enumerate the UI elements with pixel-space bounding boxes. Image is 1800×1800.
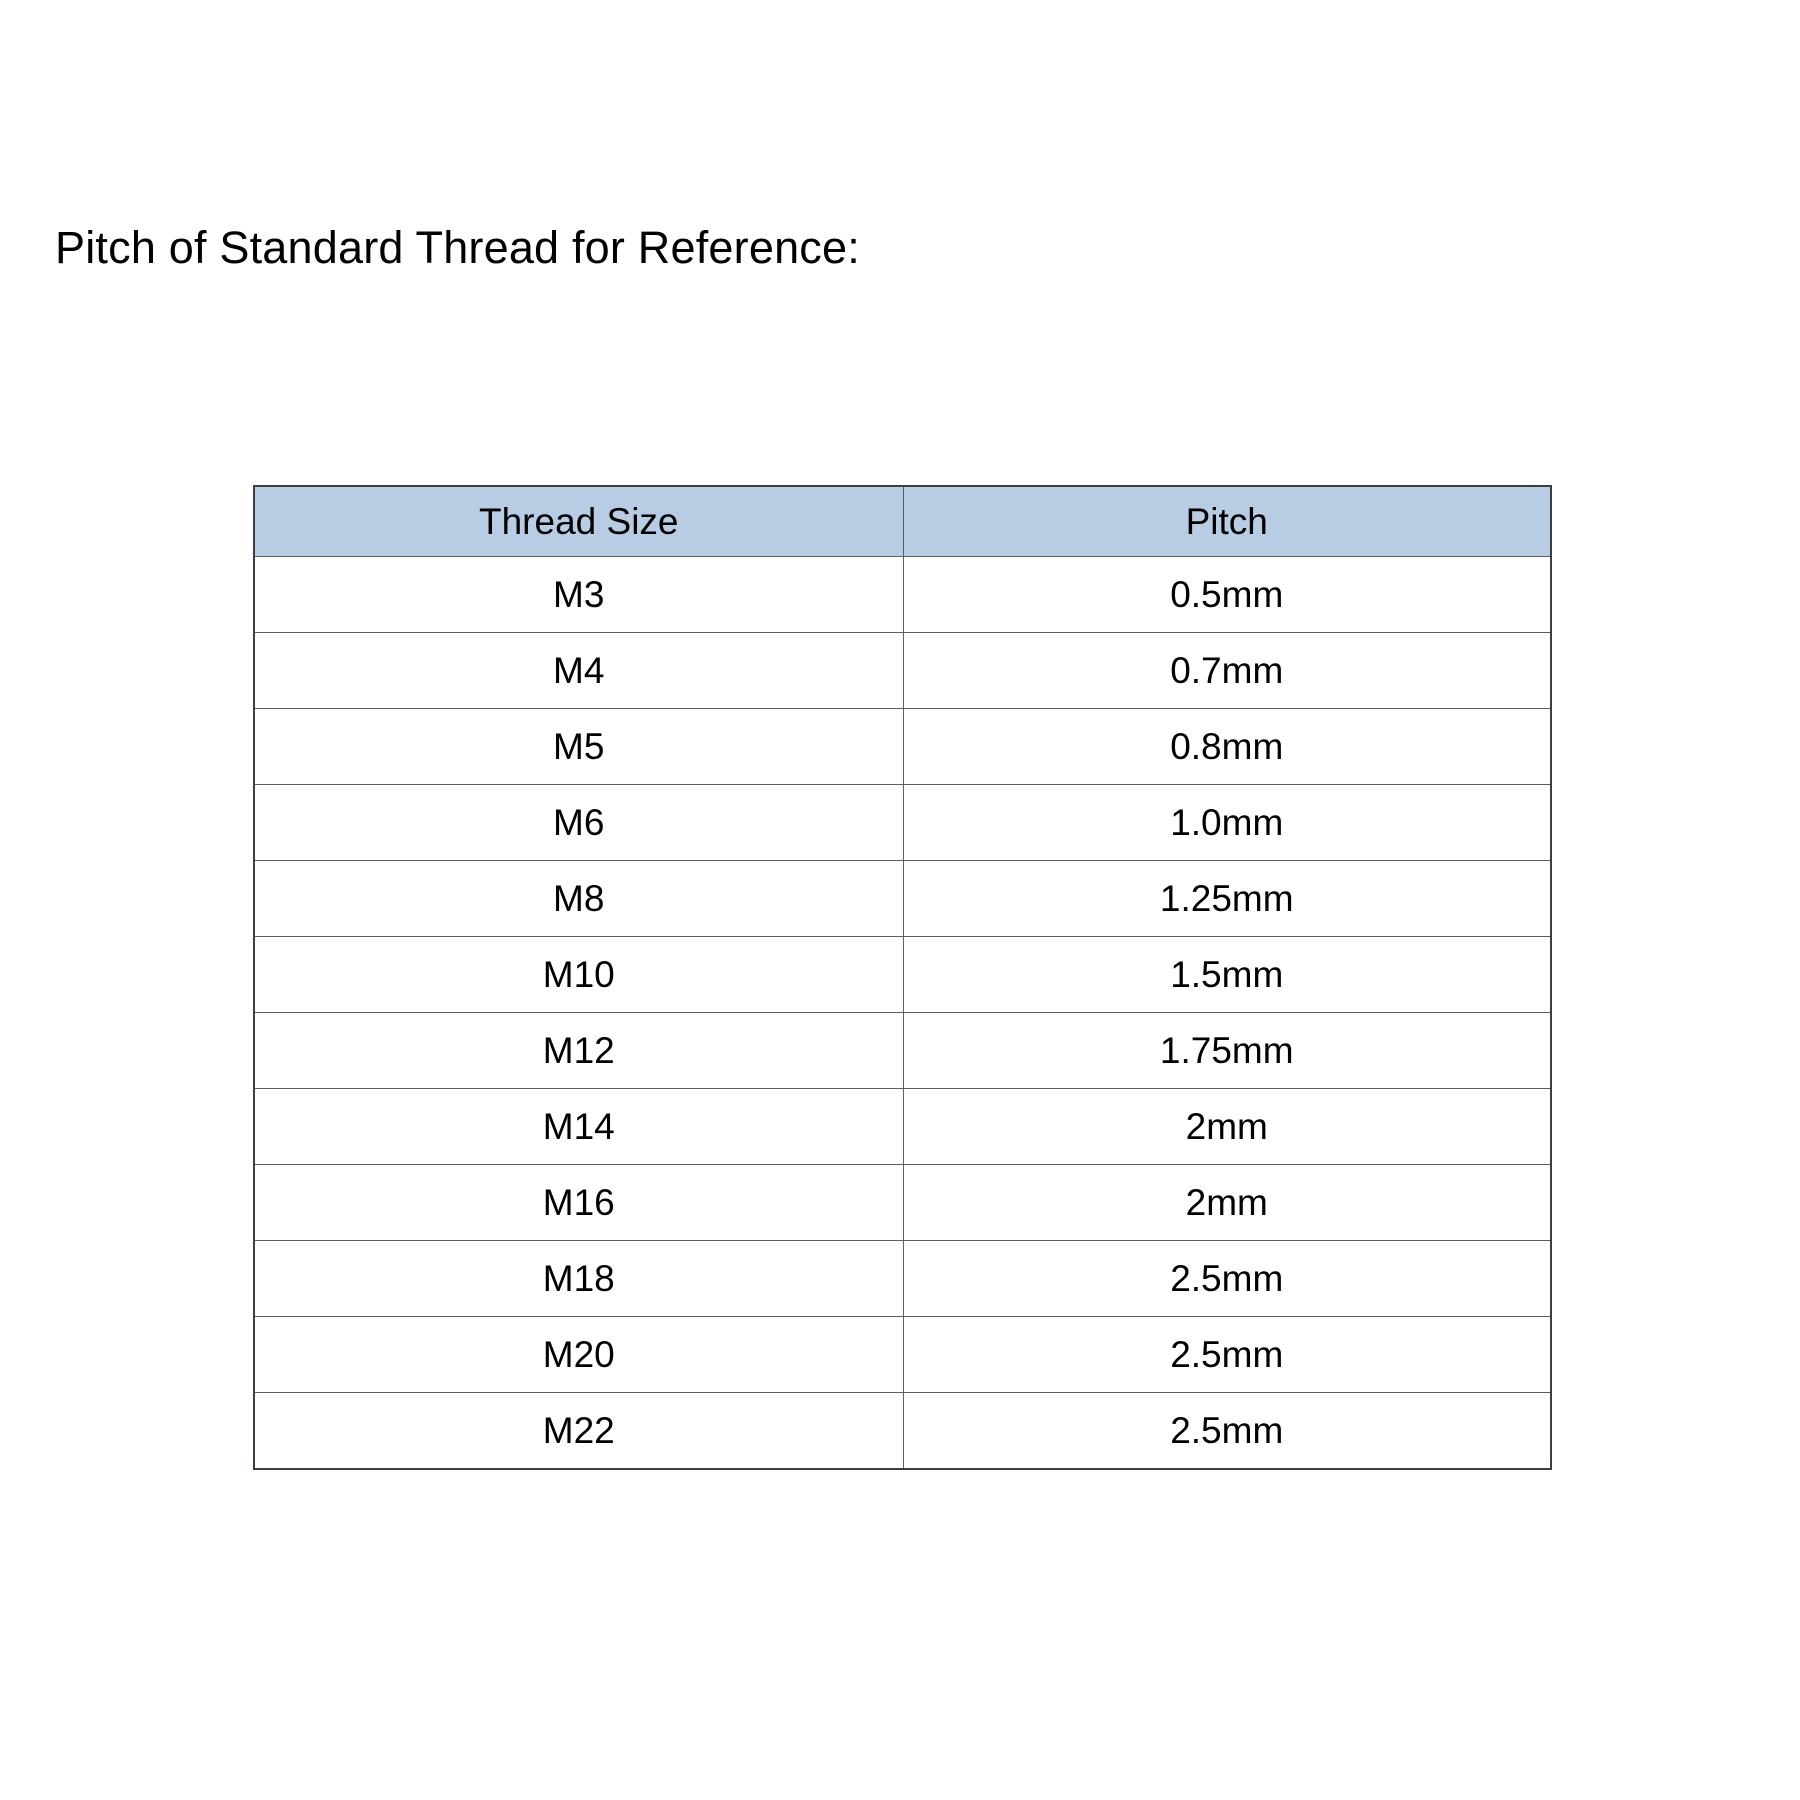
table-row: M18 2.5mm xyxy=(254,1241,1551,1317)
table-body: M3 0.5mm M4 0.7mm M5 0.8mm M6 1.0mm M8 xyxy=(254,557,1551,1470)
cell-pitch: 0.5mm xyxy=(903,557,1551,633)
thread-pitch-table-container: Thread Size Pitch M3 0.5mm M4 0.7mm M5 0… xyxy=(253,485,1550,1470)
cell-thread-size: M20 xyxy=(254,1317,903,1393)
cell-pitch: 1.0mm xyxy=(903,785,1551,861)
table-row: M10 1.5mm xyxy=(254,937,1551,1013)
column-header-thread-size: Thread Size xyxy=(254,486,903,557)
cell-thread-size: M16 xyxy=(254,1165,903,1241)
table-row: M3 0.5mm xyxy=(254,557,1551,633)
table-row: M22 2.5mm xyxy=(254,1393,1551,1470)
cell-thread-size: M14 xyxy=(254,1089,903,1165)
table-row: M6 1.0mm xyxy=(254,785,1551,861)
cell-pitch: 0.8mm xyxy=(903,709,1551,785)
cell-pitch: 2.5mm xyxy=(903,1393,1551,1470)
cell-pitch: 2.5mm xyxy=(903,1317,1551,1393)
cell-thread-size: M4 xyxy=(254,633,903,709)
table-header-row: Thread Size Pitch xyxy=(254,486,1551,557)
cell-pitch: 1.5mm xyxy=(903,937,1551,1013)
cell-pitch: 2mm xyxy=(903,1165,1551,1241)
cell-thread-size: M6 xyxy=(254,785,903,861)
page-title: Pitch of Standard Thread for Reference: xyxy=(55,222,860,274)
cell-thread-size: M22 xyxy=(254,1393,903,1470)
cell-thread-size: M18 xyxy=(254,1241,903,1317)
table-row: M16 2mm xyxy=(254,1165,1551,1241)
cell-pitch: 0.7mm xyxy=(903,633,1551,709)
cell-thread-size: M8 xyxy=(254,861,903,937)
cell-thread-size: M5 xyxy=(254,709,903,785)
table-row: M20 2.5mm xyxy=(254,1317,1551,1393)
cell-pitch: 2.5mm xyxy=(903,1241,1551,1317)
cell-pitch: 2mm xyxy=(903,1089,1551,1165)
cell-pitch: 1.75mm xyxy=(903,1013,1551,1089)
cell-thread-size: M12 xyxy=(254,1013,903,1089)
table-row: M14 2mm xyxy=(254,1089,1551,1165)
column-header-pitch: Pitch xyxy=(903,486,1551,557)
document-page: Pitch of Standard Thread for Reference: … xyxy=(0,0,1800,1800)
table-row: M4 0.7mm xyxy=(254,633,1551,709)
table-row: M5 0.8mm xyxy=(254,709,1551,785)
cell-thread-size: M10 xyxy=(254,937,903,1013)
thread-pitch-table: Thread Size Pitch M3 0.5mm M4 0.7mm M5 0… xyxy=(253,485,1552,1470)
table-row: M12 1.75mm xyxy=(254,1013,1551,1089)
cell-thread-size: M3 xyxy=(254,557,903,633)
table-row: M8 1.25mm xyxy=(254,861,1551,937)
cell-pitch: 1.25mm xyxy=(903,861,1551,937)
table-header: Thread Size Pitch xyxy=(254,486,1551,557)
